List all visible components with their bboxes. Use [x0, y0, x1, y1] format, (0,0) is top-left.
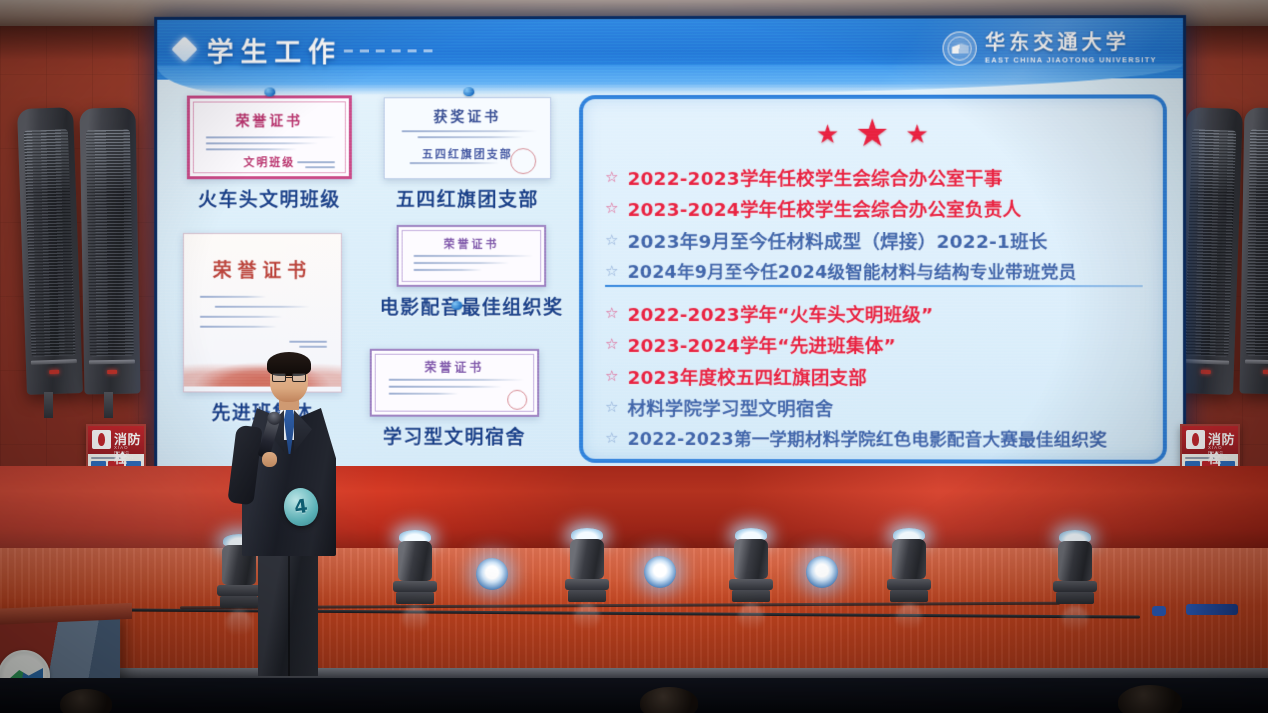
- speaker-led: [107, 370, 117, 374]
- list-item-text: 2022-2023学年任校学生会综合办公室干事: [627, 167, 1002, 193]
- presenter-legs: [258, 544, 318, 676]
- certificate-image: 荣誉证书: [397, 225, 547, 287]
- moving-head-light: [728, 528, 774, 630]
- certificate-doc-title: 获奖证书: [385, 106, 550, 126]
- certificate-body-lines: [388, 379, 524, 395]
- star-icon: ★: [905, 121, 928, 147]
- light-yoke: [217, 585, 261, 596]
- moving-head-light: [564, 528, 610, 630]
- speaker-mount: [104, 392, 113, 418]
- light-body: [570, 539, 604, 579]
- certificate-signature: [297, 161, 335, 168]
- glasses-icon: [272, 373, 306, 382]
- certificate-signature: [289, 341, 327, 348]
- audience-row: [0, 678, 1268, 713]
- light-yoke: [729, 579, 773, 590]
- light-reflection: [896, 604, 922, 630]
- speaker-led: [49, 370, 59, 374]
- light-reflection: [226, 610, 252, 636]
- light-base: [890, 590, 928, 602]
- light-body: [734, 539, 768, 579]
- list-item: ☆ 2023-2024学年“先进班集体”: [605, 334, 1149, 361]
- line-array-speaker: [1177, 107, 1243, 395]
- list-item: ☆ 2023-2024学年任校学生会综合办公室负责人: [605, 198, 1149, 224]
- speaker-grille: [86, 130, 134, 357]
- audience-head: [60, 689, 112, 713]
- university-name-cn: 华东交通大学: [985, 33, 1157, 53]
- presenter-hand: [262, 452, 277, 467]
- par-light: [644, 556, 676, 588]
- cable-connector: [1186, 604, 1238, 615]
- list-item-text: 2022-2023学年“火车头文明班级”: [627, 303, 933, 329]
- slide-header: 学生工作 华东交通大学 EAST CHINA JIAOTONG UNIVERSI…: [157, 18, 1183, 80]
- light-yoke: [393, 581, 437, 592]
- fire-extinguisher-icon: [1186, 430, 1205, 449]
- light-reflection: [738, 604, 764, 630]
- list-item: ☆ 2023年度校五四红旗团支部: [605, 365, 1149, 392]
- certificate-item[interactable]: 荣誉证书 文明班级 火车头文明班级: [187, 95, 352, 212]
- speaker-bar: [89, 360, 135, 365]
- certificate-image: 获奖证书 五四红旗团支部: [384, 97, 551, 179]
- certificate-caption: 电影配音最佳组织奖: [380, 293, 564, 320]
- list-item-text: 2022-2023第一学期材料学院红色电影配音大赛最佳组织奖: [627, 428, 1107, 454]
- pin-icon: [451, 301, 462, 310]
- light-base: [220, 596, 258, 608]
- light-yoke: [565, 579, 609, 590]
- light-yoke: [1053, 581, 1097, 592]
- stars-decoration: ★ ★ ★: [583, 114, 1163, 153]
- star-outline-icon: ☆: [605, 365, 618, 388]
- positions-list: ☆ 2022-2023学年任校学生会综合办公室干事 ☆ 2023-2024学年任…: [605, 167, 1149, 291]
- audience-head: [640, 687, 698, 713]
- par-light: [806, 556, 838, 588]
- speaker-cluster-right: [1182, 108, 1268, 394]
- certificate-image: 荣誉证书 文明班级: [187, 95, 352, 179]
- list-item-text: 2023年度校五四红旗团支部: [627, 365, 867, 392]
- light-reflection: [1062, 606, 1088, 632]
- title-underline-dashes: [344, 49, 440, 52]
- list-item: ☆ 2022-2023第一学期材料学院红色电影配音大赛最佳组织奖: [605, 428, 1149, 454]
- light-reflection: [402, 606, 428, 632]
- fire-extinguisher-icon: [92, 430, 111, 449]
- list-item-text: 2023年9月至今任材料成型（焊接）2022-1班长: [627, 229, 1047, 255]
- par-light: [476, 558, 508, 590]
- university-name-en: EAST CHINA JIAOTONG UNIVERSITY: [985, 57, 1157, 65]
- certificate-caption: 火车头文明班级: [198, 185, 341, 212]
- light-base: [732, 590, 770, 602]
- moving-head-light: [886, 528, 932, 630]
- certificate-body-lines: [200, 296, 329, 328]
- star-icon: ★: [855, 115, 889, 153]
- presenter-speaker: 4: [232, 356, 344, 556]
- list-item: ☆ 2022-2023学年任校学生会综合办公室干事: [605, 167, 1149, 194]
- speaker-mount: [44, 392, 53, 418]
- university-logo: 华东交通大学 EAST CHINA JIAOTONG UNIVERSITY: [943, 26, 1157, 70]
- speaker-bar: [1183, 359, 1229, 365]
- auditorium-scene: 学生工作 华东交通大学 EAST CHINA JIAOTONG UNIVERSI…: [0, 0, 1268, 713]
- line-array-speaker: [80, 108, 141, 395]
- certificate-doc-title: 荣誉证书: [184, 256, 341, 283]
- achievements-panel: ★ ★ ★ ☆ 2022-2023学年任校学生会综合办公室干事 ☆ 2023-2…: [579, 94, 1167, 463]
- fire-sign-header: 消防栓 XIAO FANG SHUAN: [88, 426, 144, 454]
- star-outline-icon: ☆: [605, 230, 618, 252]
- cable-connector: [1152, 606, 1166, 616]
- speaker-cluster-left: [22, 108, 138, 394]
- certificate-body-lines: [206, 136, 336, 150]
- list-item: ☆ 2022-2023学年“火车头文明班级”: [605, 303, 1149, 330]
- certificate-body-lines: [413, 255, 532, 271]
- star-outline-icon: ☆: [605, 428, 618, 451]
- badge-number: 4: [293, 495, 309, 519]
- moving-head-light: [392, 530, 438, 632]
- speaker-grille: [1184, 129, 1236, 356]
- diamond-icon: [171, 36, 198, 63]
- speaker-grille: [24, 129, 76, 356]
- audience-head: [1118, 685, 1182, 713]
- star-outline-icon: ☆: [605, 167, 618, 189]
- light-base: [396, 592, 434, 604]
- star-outline-icon: ☆: [605, 397, 618, 420]
- moving-head-light: [1052, 530, 1098, 632]
- red-seal-stamp: [507, 390, 527, 410]
- light-base: [568, 590, 606, 602]
- university-names: 华东交通大学 EAST CHINA JIAOTONG UNIVERSITY: [985, 33, 1157, 65]
- pin-icon: [463, 87, 474, 96]
- certificate-caption: 五四红旗团支部: [396, 185, 539, 212]
- certificate-item[interactable]: 荣誉证书 电影配音最佳组织奖: [380, 225, 564, 320]
- list-item-text: 2023-2024学年任校学生会综合办公室负责人: [627, 198, 1021, 224]
- star-outline-icon: ☆: [605, 198, 618, 220]
- fire-sign-subtitle: XIAO FANG SHUAN: [114, 445, 144, 460]
- speaker-bar: [1245, 360, 1268, 365]
- light-yoke: [887, 579, 931, 590]
- pin-icon: [264, 87, 275, 96]
- star-outline-icon: ☆: [605, 334, 618, 357]
- speaker-led: [1201, 370, 1211, 374]
- star-outline-icon: ☆: [605, 261, 618, 283]
- certificate-body-lines: [401, 130, 537, 138]
- page-title: 学生工作: [207, 31, 342, 70]
- university-seal-icon: [943, 31, 977, 65]
- honors-list: ☆ 2022-2023学年“火车头文明班级” ☆ 2023-2024学年“先进班…: [605, 303, 1149, 459]
- speaker-led: [1263, 370, 1268, 374]
- certificate-doc-title: 荣誉证书: [372, 359, 537, 376]
- line-array-speaker: [17, 107, 83, 395]
- fire-sign-subtitle: XIAO FANG SHUAN: [1208, 445, 1238, 460]
- speaker-grille: [1246, 130, 1268, 357]
- certificate-caption: 学习型文明宿舍: [383, 423, 526, 450]
- list-item-text: 2023-2024学年“先进班集体”: [627, 334, 895, 361]
- fire-sign-header: 消防栓 XIAO FANG SHUAN: [1182, 426, 1238, 454]
- list-item: ☆ 材料学院学习型文明宿舍: [605, 397, 1149, 424]
- light-base: [1056, 592, 1094, 604]
- certificate-doc-title: 荣誉证书: [399, 236, 545, 252]
- star-outline-icon: ☆: [605, 303, 618, 325]
- light-body: [892, 539, 926, 579]
- star-icon: ★: [816, 121, 839, 147]
- light-body: [398, 541, 432, 581]
- list-item: ☆ 2024年9月至今任2024级智能材料与结构专业带班党员: [605, 261, 1149, 286]
- light-reflection: [574, 604, 600, 630]
- line-array-speaker: [1240, 108, 1268, 395]
- certificate-item[interactable]: 荣誉证书 学习型文明宿舍: [370, 349, 539, 450]
- certificate-doc-title: 荣誉证书: [190, 110, 349, 130]
- list-item-text: 材料学院学习型文明宿舍: [627, 397, 833, 424]
- red-seal-stamp: [510, 148, 536, 174]
- list-item: ☆ 2023年9月至今任材料成型（焊接）2022-1班长: [605, 229, 1149, 255]
- section-divider: [605, 285, 1143, 287]
- speaker-bar: [31, 359, 77, 365]
- certificate-item[interactable]: 获奖证书 五四红旗团支部 五四红旗团支部: [384, 97, 551, 212]
- certificate-image: 荣誉证书: [370, 349, 539, 417]
- list-item-text: 2024年9月至今任2024级智能材料与结构专业带班党员: [627, 261, 1076, 286]
- light-body: [1058, 541, 1092, 581]
